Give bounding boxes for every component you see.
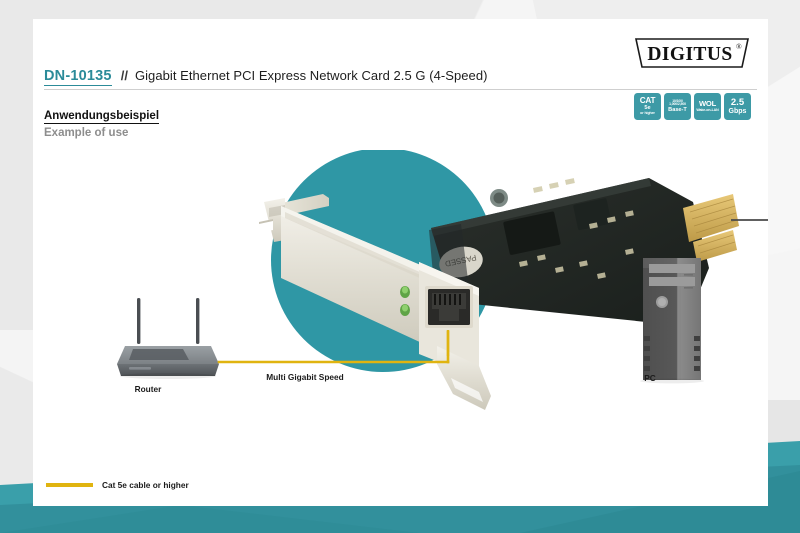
ethernet-cable-run [219, 332, 448, 362]
product-name: Gigabit Ethernet PCI Express Network Car… [135, 68, 488, 83]
badge-base-t: 10/100/ 1,000/2,500 Base-T [664, 93, 691, 120]
page-canvas: DIGITUS ® DN-10135 // Gigabit Ethernet P… [0, 0, 800, 533]
section-title-de: Anwendungsbeispiel [44, 110, 159, 124]
legend-color-swatch [46, 483, 93, 487]
product-title-row: DN-10135 // Gigabit Ethernet PCI Express… [44, 68, 488, 86]
svg-text:DIGITUS: DIGITUS [647, 44, 732, 65]
title-separator: // [121, 68, 128, 83]
badge-base-t-mid: Base-T [668, 108, 687, 114]
badge-speed-main: 2.5 [731, 98, 744, 108]
badge-wol: WOL Wake-on-LAN [694, 93, 721, 120]
badge-cat5e-main: CAT [640, 97, 656, 105]
badge-wol-sub: Wake-on-LAN [696, 109, 718, 113]
badge-speed: 2.5 Gbps [724, 93, 751, 120]
header-divider [44, 89, 757, 90]
svg-text:®: ® [736, 42, 742, 51]
router-illustration [117, 298, 219, 379]
cable-legend: Cat 5e cable or higher [46, 480, 189, 490]
product-sku: DN-10135 [44, 68, 112, 86]
section-title-en: Example of use [44, 127, 128, 139]
badge-speed-sub: Gbps [729, 108, 747, 115]
badge-cat5e-sub: or higher [640, 112, 655, 116]
badge-wol-main: WOL [699, 100, 716, 108]
legend-label: Cat 5e cable or higher [102, 480, 189, 490]
router-label: Router [113, 384, 183, 394]
badge-cat5e: CAT 5e or higher [634, 93, 661, 120]
pc-tower-illustration [640, 258, 704, 383]
feature-badges: CAT 5e or higher 10/100/ 1,000/2,500 Bas… [634, 93, 751, 120]
pc-label: PC [620, 373, 680, 383]
digitus-logo: DIGITUS ® [632, 36, 752, 70]
link-speed-label: Multi Gigabit Speed [225, 372, 385, 382]
badge-cat5e-mid: 5e [644, 106, 650, 112]
